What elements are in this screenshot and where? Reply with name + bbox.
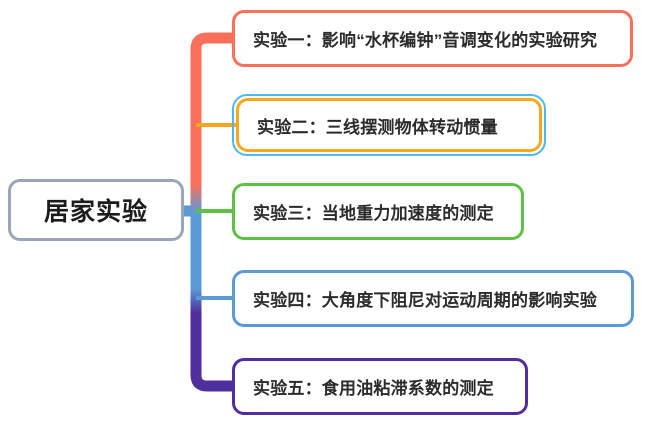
- branch-node-5[interactable]: 实验五：食用油粘滞系数的测定: [232, 358, 528, 415]
- branch-node-3-label: 实验三：当地重力加速度的测定: [253, 199, 494, 224]
- branch-node-3[interactable]: 实验三：当地重力加速度的测定: [232, 183, 524, 240]
- branch-node-1-label: 实验一：影响“水杯编钟”音调变化的实验研究: [253, 26, 597, 51]
- branch-node-4[interactable]: 实验四：大角度下阻尼对运动周期的影响实验: [232, 270, 634, 327]
- connector-trunk: [196, 38, 232, 386]
- root-node-label: 居家实验: [44, 192, 148, 228]
- root-node[interactable]: 居家实验: [8, 179, 184, 241]
- branch-node-2[interactable]: 实验二：三线摆测物体转动惯量: [236, 98, 542, 152]
- branch-node-1[interactable]: 实验一：影响“水杯编钟”音调变化的实验研究: [232, 10, 633, 67]
- branch-node-4-label: 实验四：大角度下阻尼对运动周期的影响实验: [253, 286, 597, 311]
- branch-node-2-label: 实验二：三线摆测物体转动惯量: [257, 113, 498, 138]
- mindmap-canvas: 居家实验 实验一：影响“水杯编钟”音调变化的实验研究 实验二：三线摆测物体转动惯…: [0, 0, 649, 425]
- branch-node-5-label: 实验五：食用油粘滞系数的测定: [253, 374, 494, 399]
